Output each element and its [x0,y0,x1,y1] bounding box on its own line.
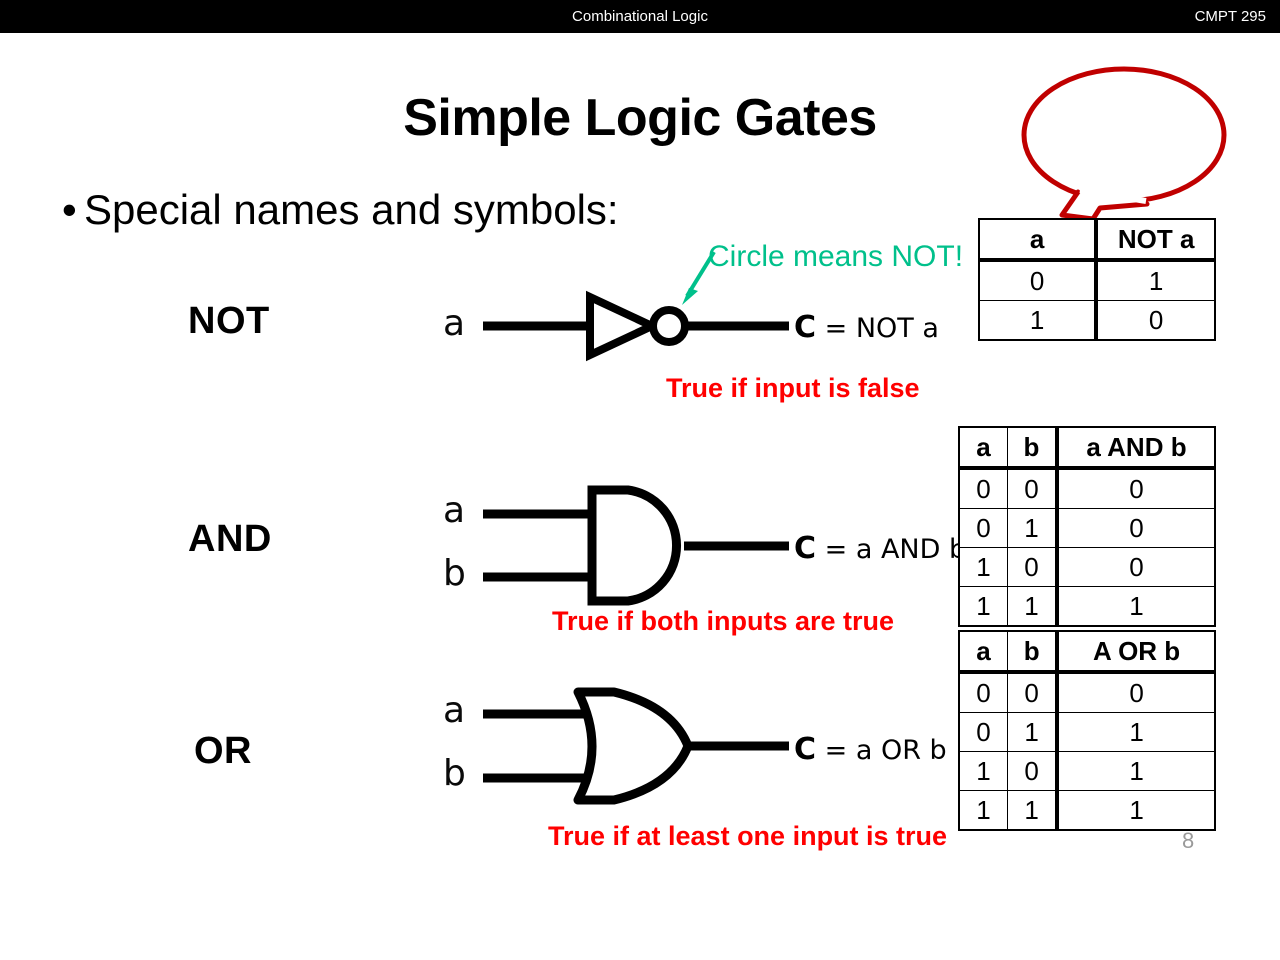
table-header-row: a b A OR b [959,631,1215,672]
truth-table-or: a b A OR b 0 0 0 0 1 1 1 0 1 1 1 1 [958,630,1216,831]
not-input-label-a: a [443,303,465,344]
cell: 1 [1057,713,1215,752]
header-course-code: CMPT 295 [1195,0,1266,33]
cell: 1 [1057,587,1215,627]
table-row: 1 0 [979,301,1215,341]
and-input-label-b: b [443,553,466,594]
or-input-label-b: b [443,753,466,794]
truth-table-and: a b a AND b 0 0 0 0 1 0 1 0 0 1 1 1 [958,426,1216,627]
cell: 1 [979,301,1096,341]
and-output-text: = a AND b [825,534,967,565]
truth-table-not: a NOT a 0 1 1 0 [978,218,1216,341]
or-output-expression: C = a OR b [794,732,947,767]
table-row: 1 1 1 [959,791,1215,831]
and-caption: True if both inputs are true [552,606,894,637]
cell: 1 [959,587,1007,627]
cell: 0 [1057,509,1215,548]
table-row: 0 0 0 [959,468,1215,509]
cell: 1 [1008,791,1058,831]
th-or-b: b [1008,631,1058,672]
cell: 0 [1057,468,1215,509]
cell: 1 [1057,752,1215,791]
table-header-row: a b a AND b [959,427,1215,468]
cell: 0 [1057,548,1215,587]
cell: 1 [1057,791,1215,831]
cell: 0 [1007,548,1057,587]
th-and-b: b [1007,427,1057,468]
cell: 1 [1008,713,1058,752]
and-gate-symbol [483,490,789,601]
table-row: 0 1 1 [959,713,1215,752]
bullet-text: Special names and symbols: [84,186,619,233]
cell: 1 [1096,260,1215,301]
and-input-label-a: a [443,490,465,531]
table-row: 1 0 1 [959,752,1215,791]
table-row: 0 1 [979,260,1215,301]
table-row: 0 0 0 [959,672,1215,713]
cell: 0 [959,509,1007,548]
th-or-result: A OR b [1057,631,1215,672]
cell: 0 [979,260,1096,301]
cell: 0 [1057,672,1215,713]
not-output-symbol: C [794,310,816,345]
gate-label-not: NOT [188,300,270,343]
cell: 0 [959,713,1008,752]
or-gate-symbol [483,692,789,800]
gate-label-or: OR [194,730,252,773]
cell: 0 [959,468,1007,509]
bullet-marker-icon: • [62,186,84,234]
not-output-text: = NOT a [825,313,939,344]
not-gate-symbol [483,297,789,355]
or-caption: True if at least one input is true [548,821,947,852]
cell: 0 [1096,301,1215,341]
cell: 0 [1007,468,1057,509]
top-header-bar: Combinational Logic CMPT 295 [0,0,1280,33]
table-row: 1 1 1 [959,587,1215,627]
cell: 1 [959,548,1007,587]
cell: 1 [959,791,1008,831]
or-output-symbol: C [794,732,816,767]
cell: 1 [1007,587,1057,627]
bullet-line: •Special names and symbols: [62,186,619,234]
table-row: 0 1 0 [959,509,1215,548]
th-and-a: a [959,427,1007,468]
cell: 0 [1008,672,1058,713]
and-output-expression: C = a AND b [794,531,966,566]
or-output-text: = a OR b [825,735,947,766]
and-output-symbol: C [794,531,816,566]
table-header-row: a NOT a [979,219,1215,260]
or-input-label-a: a [443,690,465,731]
th-not-result: NOT a [1096,219,1215,260]
truth-table-callout-line1: Truth [1028,86,1223,136]
circle-means-not-note: Circle means NOT! [708,240,963,274]
cell: 1 [959,752,1008,791]
cell: 0 [959,672,1008,713]
not-caption: True if input is false [666,373,920,404]
cell: 1 [1007,509,1057,548]
th-not-a: a [979,219,1096,260]
gate-label-and: AND [188,518,272,561]
th-and-result: a AND b [1057,427,1215,468]
page-number: 8 [1182,828,1194,854]
header-title: Combinational Logic [0,0,1280,33]
truth-table-callout-line2: Table [1028,136,1223,186]
not-output-expression: C = NOT a [794,310,939,345]
table-row: 1 0 0 [959,548,1215,587]
th-or-a: a [959,631,1008,672]
cell: 0 [1008,752,1058,791]
